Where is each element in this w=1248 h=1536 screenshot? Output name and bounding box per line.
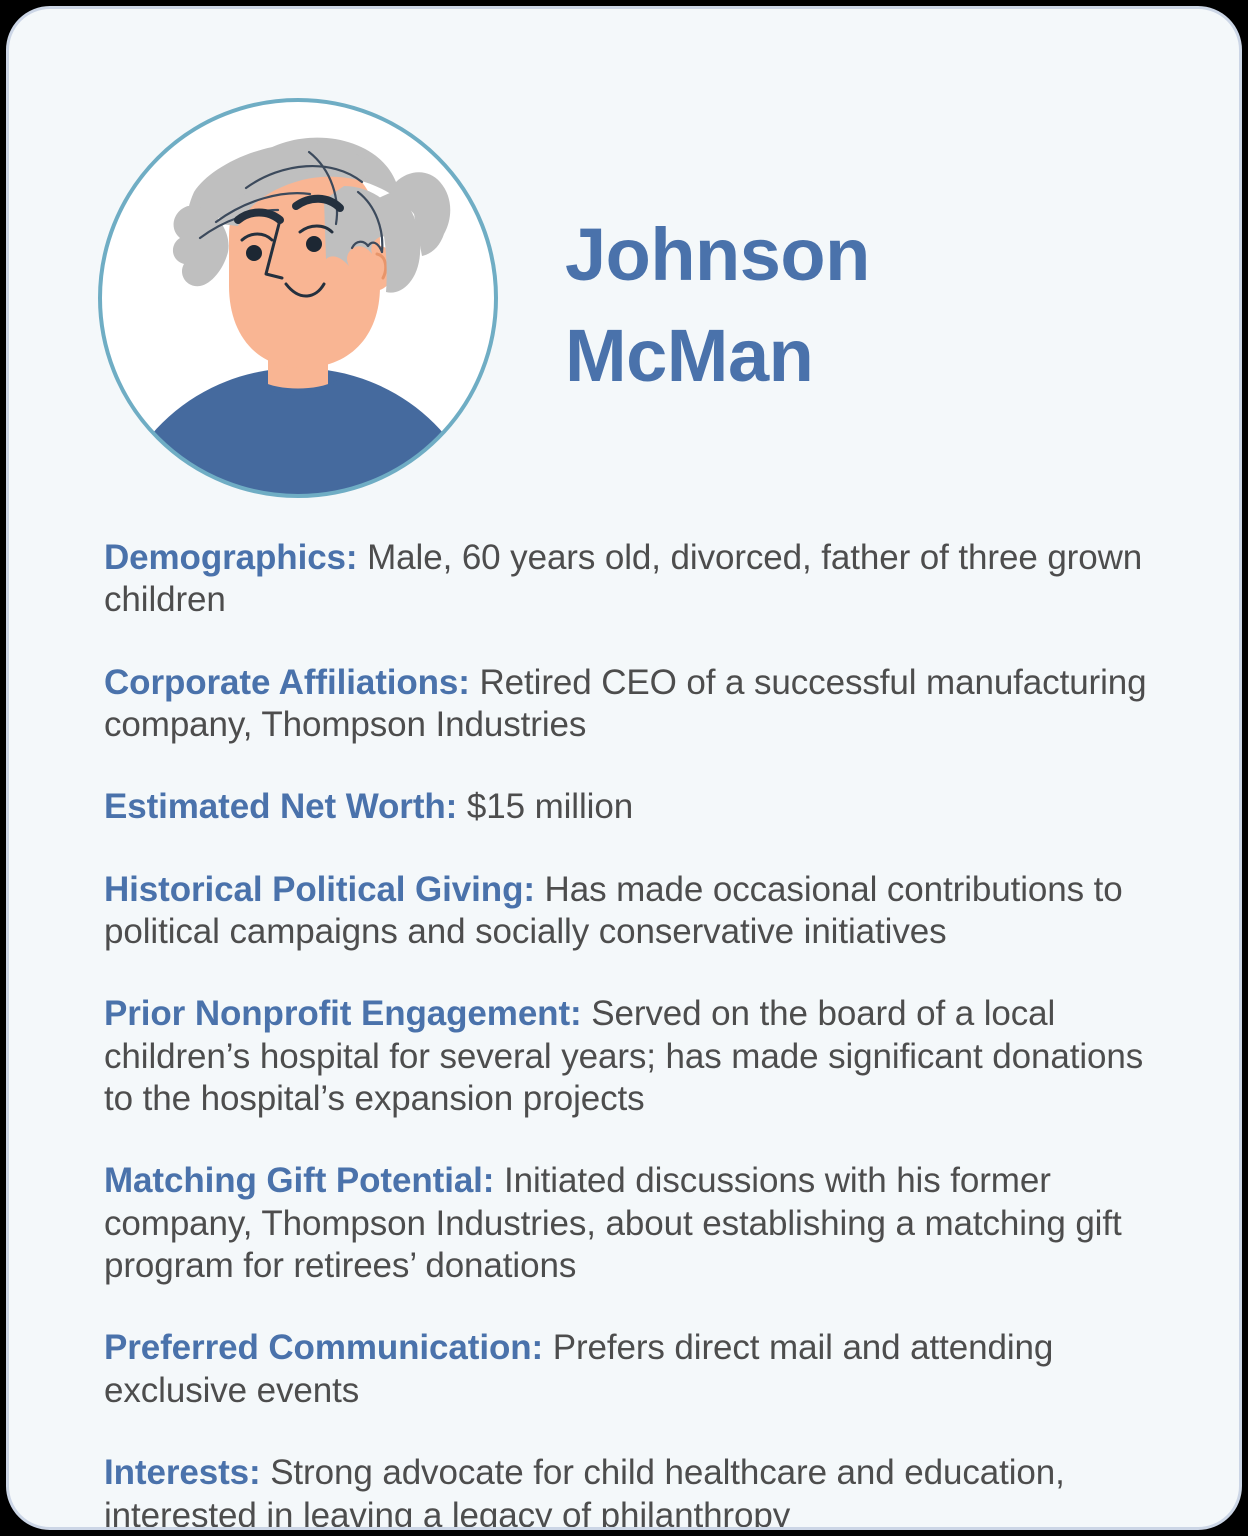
detail-label: Interests: — [104, 1453, 261, 1492]
detail-label: Historical Political Giving: — [104, 870, 535, 909]
persona-card: Johnson McMan Demographics: Male, 60 yea… — [6, 6, 1242, 1530]
detail-row-historical-political-giving: Historical Political Giving: Has made oc… — [104, 869, 1164, 954]
avatar — [96, 96, 500, 500]
detail-label: Matching Gift Potential: — [104, 1161, 494, 1200]
detail-row-demographics: Demographics: Male, 60 years old, divorc… — [104, 537, 1164, 622]
detail-row-estimated-net-worth: Estimated Net Worth: $15 million — [104, 786, 1164, 828]
details-list: Demographics: Male, 60 years old, divorc… — [104, 537, 1164, 1530]
detail-value: $15 million — [467, 787, 633, 826]
detail-label: Demographics: — [104, 538, 357, 577]
detail-row-corporate-affiliations: Corporate Affiliations: Retired CEO of a… — [104, 662, 1164, 747]
detail-row-preferred-communication: Preferred Communication: Prefers direct … — [104, 1327, 1164, 1412]
detail-label: Corporate Affiliations: — [104, 663, 470, 702]
detail-row-matching-gift-potential: Matching Gift Potential: Initiated discu… — [104, 1160, 1164, 1287]
page-title: Johnson McMan — [565, 205, 1045, 406]
detail-row-interests: Interests: Strong advocate for child hea… — [104, 1452, 1164, 1530]
detail-label: Preferred Communication: — [104, 1328, 543, 1367]
detail-label: Prior Nonprofit Engagement: — [104, 994, 582, 1033]
avatar-portrait-older-man-icon — [96, 96, 500, 500]
card-header: Johnson McMan — [9, 9, 1239, 519]
detail-row-prior-nonprofit-engagement: Prior Nonprofit Engagement: Served on th… — [104, 993, 1164, 1120]
detail-label: Estimated Net Worth: — [104, 787, 457, 826]
